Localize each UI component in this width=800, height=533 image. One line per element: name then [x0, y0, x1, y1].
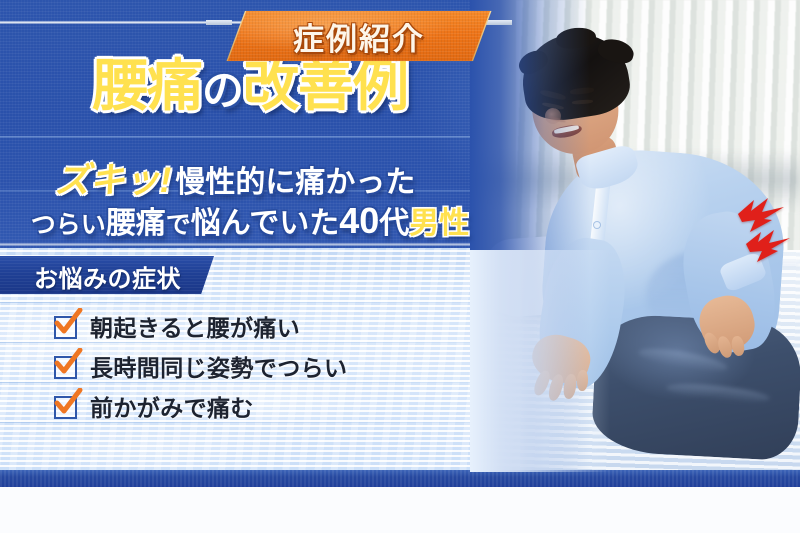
list-item-label: 朝起きると腰が痛い [90, 309, 300, 343]
subtitle-line-1: ズキッ!慢性的に痛かった [0, 152, 470, 203]
case-study-ribbon: 症例紹介 [228, 11, 490, 61]
shirt-button [594, 222, 600, 228]
checkbox-checked-icon[interactable] [54, 394, 79, 419]
title-part-1: 腰痛 [92, 54, 202, 117]
list-item[interactable]: 長時間同じ姿勢でつらい [54, 346, 347, 386]
title-part-2: の [202, 67, 243, 114]
patient-photo [470, 0, 800, 472]
list-item[interactable]: 前かがみで痛む [54, 386, 347, 426]
list-item[interactable]: 朝起きると腰が痛い [54, 306, 347, 346]
checkbox-checked-icon[interactable] [54, 314, 79, 339]
checkbox-checked-icon[interactable] [54, 354, 79, 379]
subtitle-2-part-2: 腰痛 [106, 207, 166, 240]
subtitle-line-1-rest: 慢性的に痛かった [175, 166, 415, 199]
subtitle-2-part-3: で [166, 211, 191, 239]
list-item-label: 長時間同じ姿勢でつらい [90, 349, 347, 383]
subtitle-2-gender: 男性 [409, 207, 469, 240]
subtitle-2-part-1: つらい [31, 211, 106, 239]
bottom-accent-band [0, 470, 800, 487]
bottom-white-area [0, 487, 800, 533]
photo-left-fade-lower [470, 250, 610, 472]
subtitle-2-part-4: 悩んでいた [191, 207, 340, 240]
subtitle-line-2: つらい腰痛で悩んでいた40代男性 [0, 198, 500, 242]
page-title: 腰痛の改善例 [0, 58, 500, 114]
ribbon-label: 症例紹介 [228, 11, 490, 61]
title-part-3: 改善例 [243, 54, 408, 117]
checklist-rule [0, 302, 470, 303]
symptoms-heading-label: お悩みの症状 [34, 258, 181, 294]
subtitle-2-part-6: 代 [379, 207, 409, 240]
subtitle-emphasis: ズキッ! [55, 161, 172, 200]
symptoms-checklist: 朝起きると腰が痛い 長時間同じ姿勢でつらい [54, 306, 347, 426]
subtitle-2-age-number: 40 [339, 200, 379, 241]
pain-lightning-icon [746, 230, 790, 267]
list-item-label: 前かがみで痛む [90, 389, 254, 423]
case-study-banner: 症例紹介 腰痛の改善例 ズキッ!慢性的に痛かった つらい腰痛で悩んでいた40代男… [0, 0, 800, 533]
